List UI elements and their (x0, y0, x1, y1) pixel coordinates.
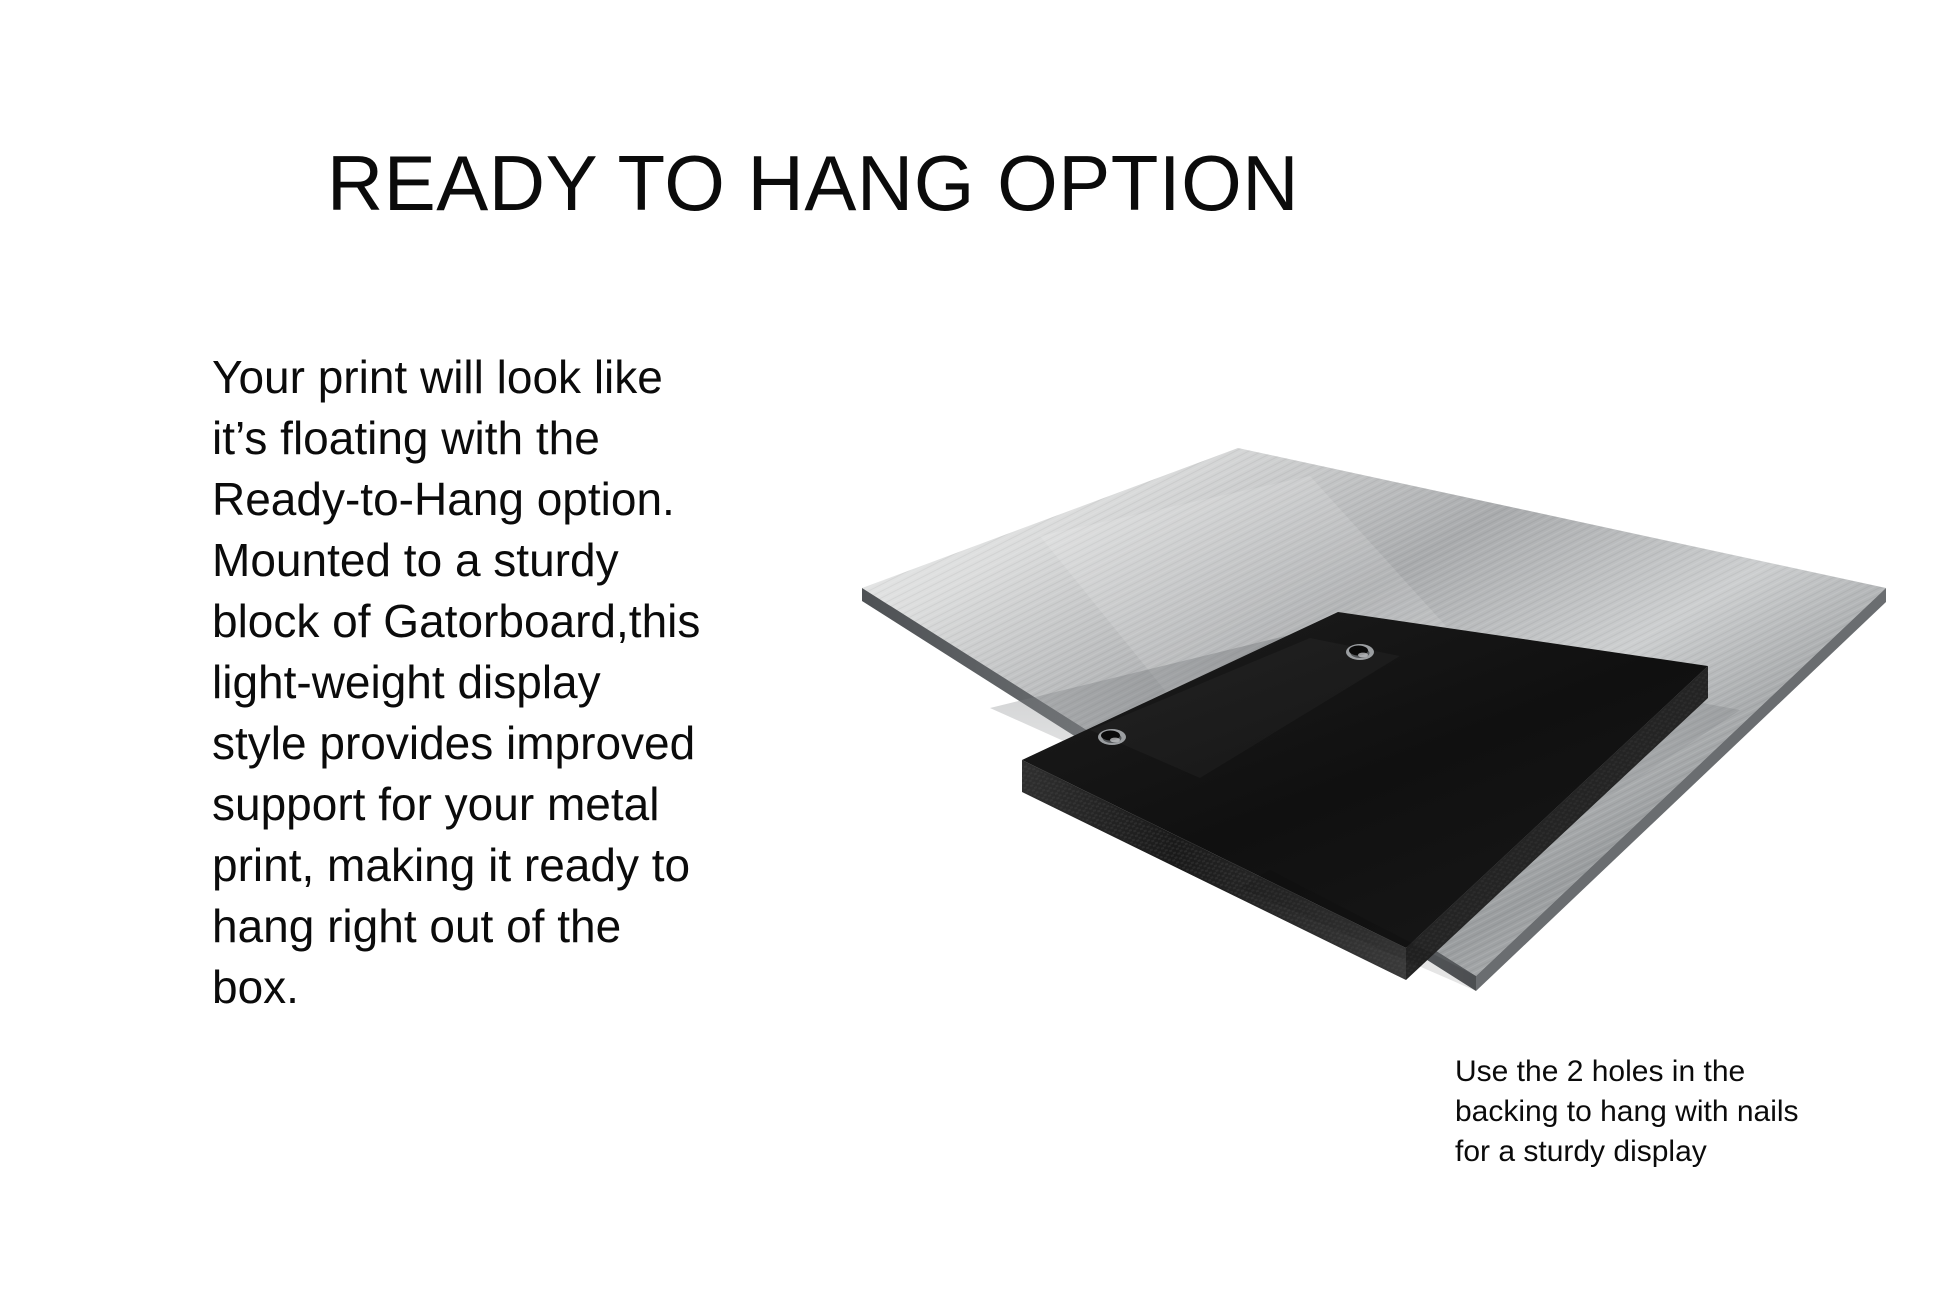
product-photo-illustration (840, 440, 1900, 1010)
page-title: READY TO HANG OPTION (0, 144, 1786, 222)
mounting-hole-upper (1346, 644, 1374, 660)
product-photo (840, 440, 1900, 1010)
description-paragraph: Your print will look like it’s floating … (212, 347, 772, 1018)
photo-caption: Use the 2 holes in the backing to hang w… (1455, 1052, 1875, 1172)
mounting-hole-lower (1098, 729, 1126, 745)
